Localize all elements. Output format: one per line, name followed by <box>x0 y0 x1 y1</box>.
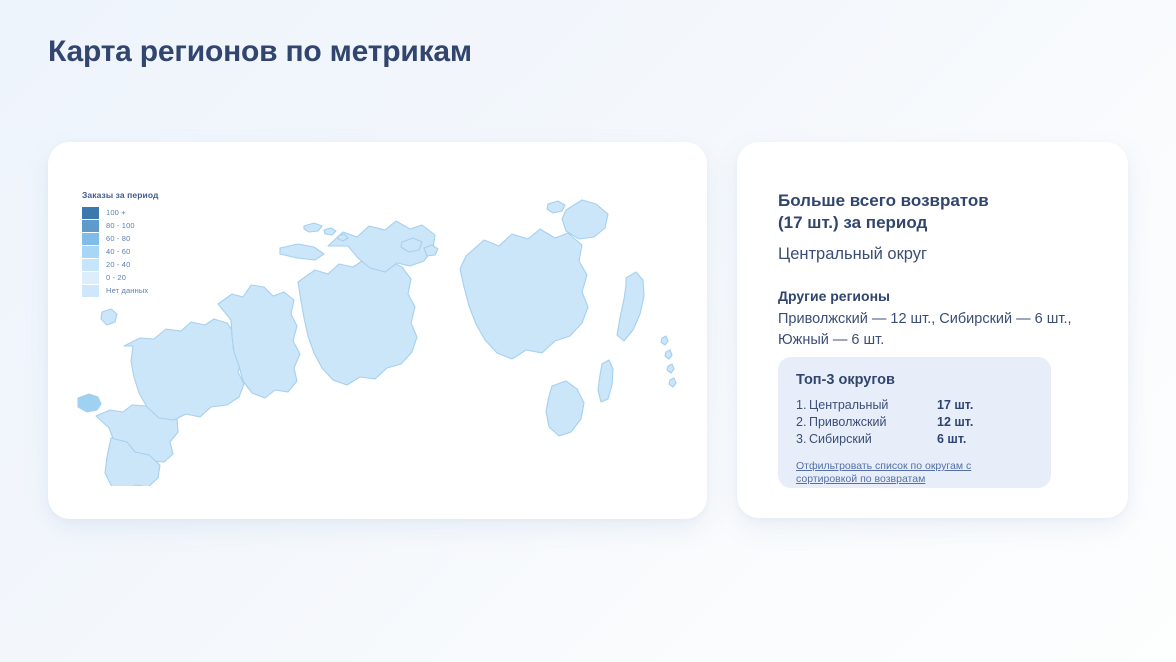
top3-rank-1: 1. <box>796 397 809 414</box>
top3-rank-3: 3. <box>796 431 809 448</box>
russia-choropleth-map[interactable] <box>66 186 696 486</box>
filter-by-districts-link[interactable]: Отфильтровать список по округам с сортир… <box>796 460 986 486</box>
region-wrangel-island <box>547 201 565 213</box>
map-card: Заказы за период 100 + 80 - 100 60 - 80 … <box>48 142 707 519</box>
top3-row-1[interactable]: 1. Центральный 17 шт. <box>796 397 1033 414</box>
region-kuril-islands <box>661 336 676 387</box>
summary-headline: Больше всего возвратов (17 шт.) за перио… <box>778 190 1094 234</box>
top3-row-2[interactable]: 2. Приволжский 12 шт. <box>796 414 1033 431</box>
top3-rank-2: 2. <box>796 414 809 431</box>
top3-count-1: 17 шт. <box>937 397 973 414</box>
region-kola-islands <box>101 309 117 325</box>
top3-name-1: Центральный <box>809 397 937 414</box>
summary-subhead: Центральный округ <box>778 243 1094 265</box>
top3-count-3: 6 шт. <box>937 431 966 448</box>
summary-content: Больше всего возвратов (17 шт.) за перио… <box>778 190 1094 351</box>
top3-name-3: Сибирский <box>809 431 937 448</box>
region-siberia[interactable] <box>298 259 417 385</box>
top3-name-2: Приволжский <box>809 414 937 431</box>
other-regions-title: Другие регионы <box>778 287 1094 306</box>
page-title: Карта регионов по метрикам <box>48 34 472 70</box>
region-kamchatka[interactable] <box>617 272 644 341</box>
summary-headline-line-1: Больше всего возвратов <box>778 190 1094 212</box>
region-chukotka[interactable] <box>562 200 608 239</box>
region-primorye[interactable] <box>546 381 584 436</box>
russia-map-svg[interactable] <box>66 186 696 486</box>
region-central-volga[interactable] <box>124 319 244 420</box>
other-regions-body: Приволжский — 12 шт., Сибирский — 6 шт.,… <box>778 309 1094 351</box>
slide-root: Карта регионов по метрикам Заказы за пер… <box>0 0 1176 662</box>
summary-headline-line-2: (17 шт.) за период <box>778 212 1094 234</box>
region-far-east[interactable] <box>460 229 588 359</box>
top3-row-3[interactable]: 3. Сибирский 6 шт. <box>796 431 1033 448</box>
top3-count-2: 12 шт. <box>937 414 973 431</box>
region-novaya-zemlya <box>280 244 324 260</box>
region-kaliningrad[interactable] <box>78 394 101 412</box>
top3-title: Топ-3 округов <box>796 372 1033 388</box>
top3-card: Топ-3 округов 1. Центральный 17 шт. 2. П… <box>778 357 1051 488</box>
region-arctic-islands <box>304 223 348 241</box>
region-sakhalin[interactable] <box>598 360 613 402</box>
